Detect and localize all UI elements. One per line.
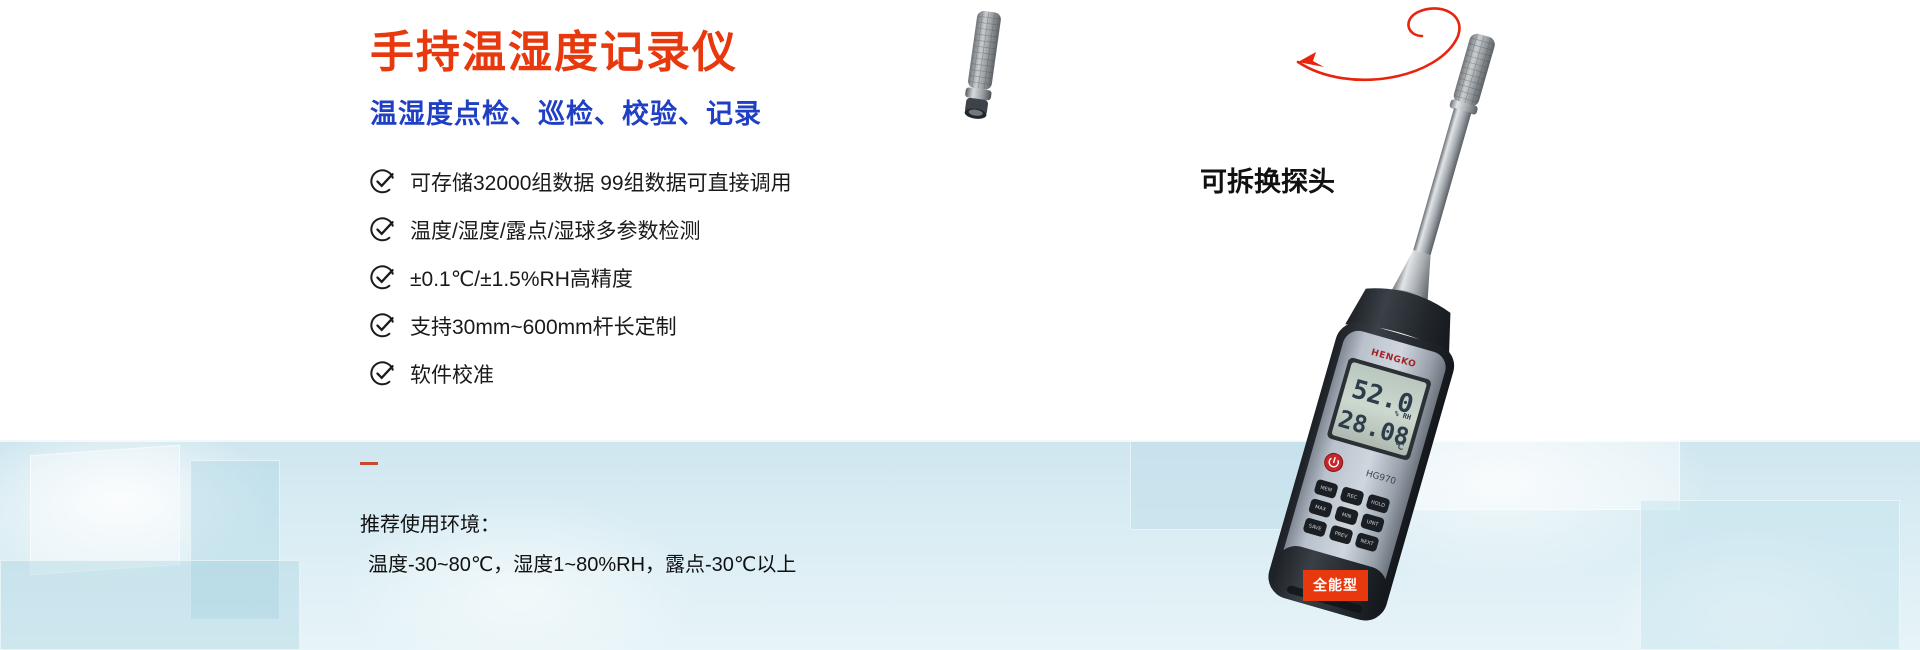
- status-badge: 全能型: [1303, 570, 1368, 601]
- check-circle-icon: [370, 265, 396, 291]
- feature-text: ±0.1℃/±1.5%RH高精度: [410, 263, 633, 293]
- environment-block: 推荐使用环境： 温度-30~80℃，湿度1~80%RH，露点-30℃以上: [360, 505, 980, 585]
- list-item: 支持30mm~600mm杆长定制: [370, 302, 970, 350]
- check-circle-icon: [370, 361, 396, 387]
- feature-text: 可存储32000组数据 99组数据可直接调用: [410, 167, 792, 197]
- feature-text: 支持30mm~600mm杆长定制: [410, 311, 677, 341]
- list-item: 可存储32000组数据 99组数据可直接调用: [370, 158, 970, 206]
- environment-label: 推荐使用环境：: [360, 505, 980, 545]
- section-dash: [360, 462, 378, 465]
- product-banner: 手持温湿度记录仪 温湿度点检、巡检、校验、记录 可存储32000组数据 99组数…: [0, 0, 1920, 650]
- feature-text: 软件校准: [410, 359, 494, 389]
- feature-text: 温度/湿度/露点/湿球多参数检测: [410, 215, 701, 245]
- feature-list: 可存储32000组数据 99组数据可直接调用 温度/湿度/露点/湿球多参数检测: [370, 158, 970, 398]
- list-item: ±0.1℃/±1.5%RH高精度: [370, 254, 970, 302]
- list-item: 软件校准: [370, 350, 970, 398]
- list-item: 温度/湿度/露点/湿球多参数检测: [370, 206, 970, 254]
- check-circle-icon: [370, 217, 396, 243]
- page-title: 手持温湿度记录仪: [370, 16, 738, 80]
- page-subtitle: 温湿度点检、巡检、校验、记录: [370, 92, 762, 131]
- product-image-area: 可拆换探头: [960, 0, 1920, 650]
- text-column: 手持温湿度记录仪 温湿度点检、巡检、校验、记录 可存储32000组数据 99组数…: [0, 0, 980, 650]
- check-circle-icon: [370, 313, 396, 339]
- detachable-probe-image: [960, 8, 1020, 138]
- environment-detail: 温度-30~80℃，湿度1~80%RH，露点-30℃以上: [360, 545, 980, 585]
- check-circle-icon: [370, 169, 396, 195]
- handheld-meter-image: HENGKO 52.0 % RH 28.08 ℃ HG970: [1220, 10, 1580, 650]
